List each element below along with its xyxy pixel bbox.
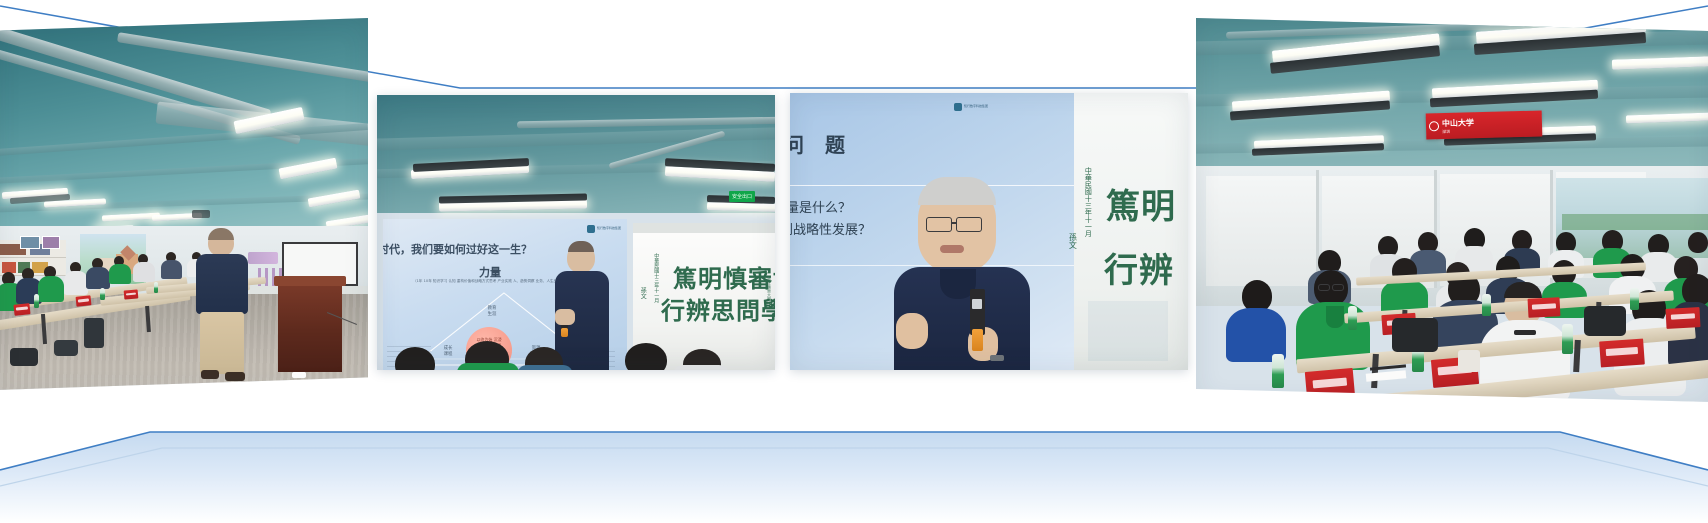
photo-speaker-closeup: 知行数字科技集团 问 题 量是什么？ 到战略性发展？ 篤明 行辨 中華民國十三年… (790, 93, 1188, 370)
photo-slide-life-question: 安全出口 知行数字科技集团 的时代，我们要如何过好这一生？ 力量 （1年 10年… (377, 95, 775, 370)
photo-classroom-wide (0, 18, 368, 390)
photo-banner-stage: 安全出口 知行数字科技集团 的时代，我们要如何过好这一生？ 力量 （1年 10年… (0, 0, 1708, 523)
photo-audience: 中山大学 深圳 (1196, 18, 1708, 402)
